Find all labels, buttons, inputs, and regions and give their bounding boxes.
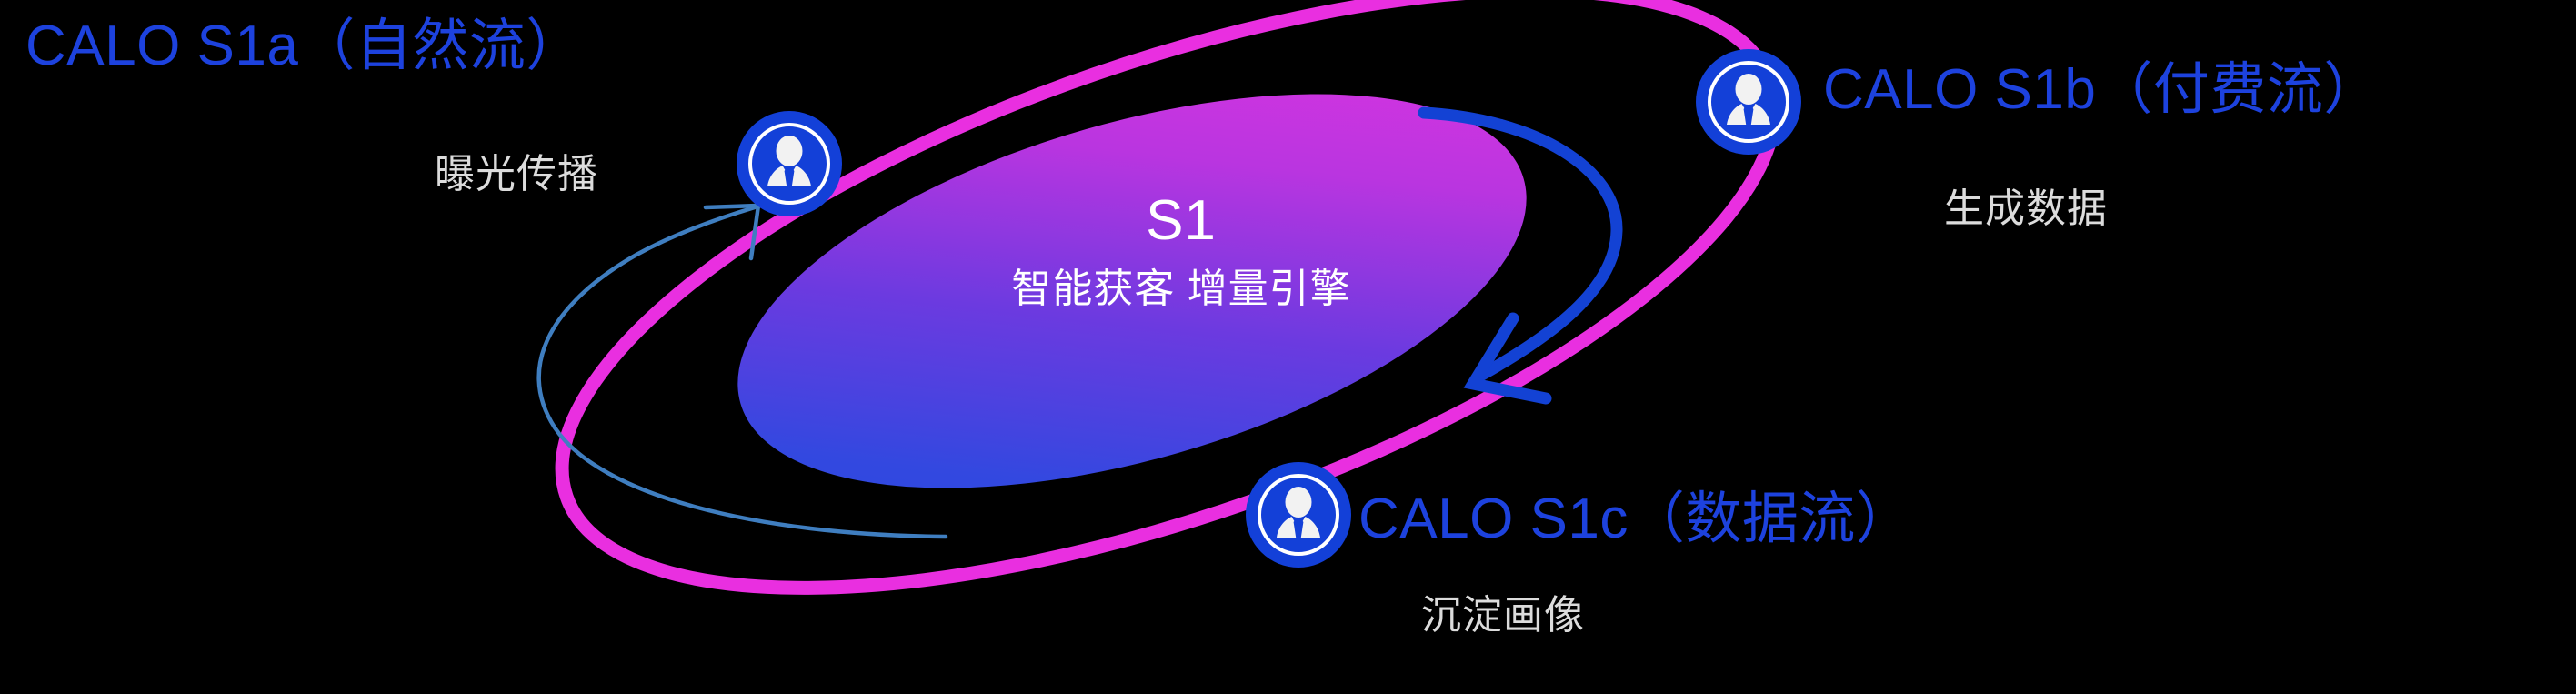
label-s1b-title: CALO S1b（付费流） (1823, 62, 2381, 118)
label-s1b-sub: 生成数据 (1944, 189, 2108, 229)
node-s1a[interactable] (737, 111, 842, 216)
label-s1c-title: CALO S1c（数据流） (1358, 491, 1912, 548)
label-s1a-title: CALO S1a（自然流） (25, 18, 583, 75)
diagram-canvas: S1 智能获客 增量引擎 CALO S1a（自然流） 曝光传播 CALO S1b… (0, 0, 2576, 694)
core-subtitle: 智能获客 增量引擎 (981, 269, 1381, 309)
node-s1b[interactable] (1696, 49, 1801, 155)
label-s1a-sub: 曝光传播 (435, 155, 598, 195)
node-s1c[interactable] (1246, 462, 1351, 568)
core-title: S1 (1072, 193, 1290, 249)
label-s1c-sub: 沉淀画像 (1421, 596, 1585, 636)
